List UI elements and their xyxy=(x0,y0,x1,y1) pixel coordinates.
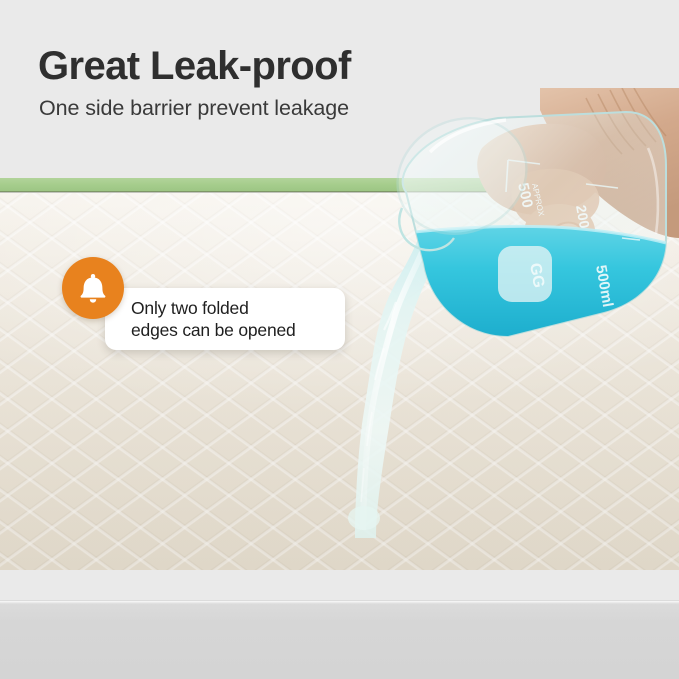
bell-icon xyxy=(76,271,110,305)
callout-badge xyxy=(62,257,124,319)
floor-highlight xyxy=(0,601,679,604)
page-subtitle: One side barrier prevent leakage xyxy=(39,96,349,122)
page-title: Great Leak-proof xyxy=(38,45,351,87)
product-feature-image: Great Leak-proof One side barrier preven… xyxy=(0,0,679,679)
beaker-with-hand: 500 APPROX 200 500ml GG xyxy=(390,88,679,338)
floor-surface xyxy=(0,600,679,679)
callout-text: Only two folded edges can be opened xyxy=(131,297,341,342)
